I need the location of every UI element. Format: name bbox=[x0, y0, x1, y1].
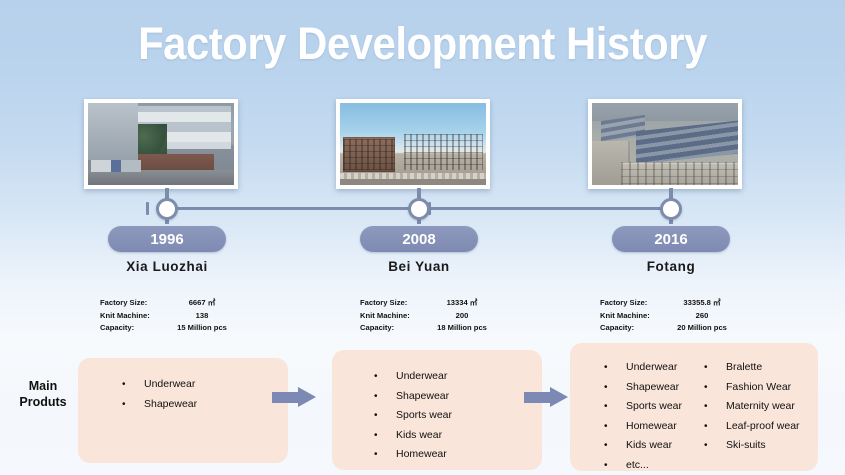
timeline-node-2016[interactable] bbox=[660, 198, 682, 220]
product-item: Underwear bbox=[144, 375, 195, 394]
slide-canvas: Factory Development History 1996 Xia Luo… bbox=[0, 0, 845, 475]
stat-label: Factory Size: bbox=[100, 297, 162, 310]
product-item: etc... bbox=[626, 456, 649, 475]
stat-label: Knit Machine: bbox=[360, 310, 422, 323]
bullet-icon: • bbox=[370, 427, 396, 446]
product-item: Sports wear bbox=[396, 406, 452, 425]
stat-value: 200 bbox=[422, 310, 502, 323]
bullet-icon: • bbox=[118, 396, 144, 415]
photo-image-aerial-complex bbox=[592, 103, 738, 185]
stat-label: Knit Machine: bbox=[600, 310, 662, 323]
page-title: Factory Development History bbox=[30, 18, 816, 70]
product-item: Kids wear bbox=[396, 426, 442, 445]
bullet-icon: • bbox=[370, 368, 396, 387]
stats-block-1996: Factory Size:6667 ㎡ Knit Machine:138 Cap… bbox=[100, 297, 242, 335]
bullet-icon: • bbox=[370, 407, 396, 426]
bullet-icon: • bbox=[600, 437, 626, 456]
milestone-photo-2008 bbox=[336, 99, 490, 189]
bullet-icon: • bbox=[600, 359, 626, 378]
stat-value: 15 Million pcs bbox=[162, 322, 242, 335]
milestone-photo-1996 bbox=[84, 99, 238, 189]
bullet-icon: • bbox=[600, 418, 626, 437]
bullet-icon: • bbox=[700, 359, 726, 378]
product-list-2016-col1: •Underwear •Shapewear •Sports wear •Home… bbox=[600, 358, 682, 475]
bullet-icon: • bbox=[700, 398, 726, 417]
photo-image-courtyard bbox=[88, 103, 234, 185]
product-item: Ski-suits bbox=[726, 436, 766, 455]
stats-block-2008: Factory Size:13334 ㎡ Knit Machine:200 Ca… bbox=[360, 297, 502, 335]
timeline-place-2008: Bei Yuan bbox=[319, 259, 519, 274]
stat-value: 6667 ㎡ bbox=[162, 297, 242, 310]
product-item: Shapewear bbox=[396, 387, 449, 406]
timeline-place-2016: Fotang bbox=[571, 259, 771, 274]
bullet-icon: • bbox=[600, 457, 626, 475]
arrow-right-icon-1 bbox=[272, 387, 316, 407]
timeline-connector-2 bbox=[428, 207, 676, 210]
product-item: Shapewear bbox=[144, 395, 197, 414]
stat-value: 260 bbox=[662, 310, 742, 323]
milestone-photo-2016 bbox=[588, 99, 742, 189]
stat-value: 13334 ㎡ bbox=[422, 297, 502, 310]
product-item: Kids wear bbox=[626, 436, 672, 455]
timeline-place-1996: Xia Luozhai bbox=[67, 259, 267, 274]
stat-value: 33355.8 ㎡ bbox=[662, 297, 742, 310]
product-list-2016-col2: •Bralette •Fashion Wear •Maternity wear … bbox=[700, 358, 800, 456]
timeline-node-1996[interactable] bbox=[156, 198, 178, 220]
stat-value: 18 Million pcs bbox=[422, 322, 502, 335]
stats-block-2016: Factory Size:33355.8 ㎡ Knit Machine:260 … bbox=[600, 297, 742, 335]
timeline-year-pill-1996[interactable]: 1996 bbox=[108, 226, 226, 252]
bullet-icon: • bbox=[600, 379, 626, 398]
stat-label: Factory Size: bbox=[360, 297, 422, 310]
product-item: Bralette bbox=[726, 358, 762, 377]
bullet-icon: • bbox=[118, 376, 144, 395]
product-list-2008: •Underwear •Shapewear •Sports wear •Kids… bbox=[370, 367, 452, 465]
main-products-label: Main Produts bbox=[12, 378, 74, 410]
stat-label: Factory Size: bbox=[600, 297, 662, 310]
bullet-icon: • bbox=[700, 437, 726, 456]
stat-label: Capacity: bbox=[600, 322, 662, 335]
product-item: Sports wear bbox=[626, 397, 682, 416]
stat-label: Capacity: bbox=[100, 322, 162, 335]
product-item: Fashion Wear bbox=[726, 378, 791, 397]
product-item: Leaf-proof wear bbox=[726, 417, 800, 436]
bullet-icon: • bbox=[700, 379, 726, 398]
product-item: Shapewear bbox=[626, 378, 679, 397]
bullet-icon: • bbox=[700, 418, 726, 437]
bullet-icon: • bbox=[600, 398, 626, 417]
arrow-right-icon-2 bbox=[524, 387, 568, 407]
bullet-icon: • bbox=[370, 388, 396, 407]
product-item: Homewear bbox=[396, 445, 447, 464]
stat-label: Knit Machine: bbox=[100, 310, 162, 323]
timeline-node-2008[interactable] bbox=[408, 198, 430, 220]
product-item: Maternity wear bbox=[726, 397, 795, 416]
stat-value: 20 Million pcs bbox=[662, 322, 742, 335]
product-item: Underwear bbox=[626, 358, 677, 377]
timeline-year-pill-2008[interactable]: 2008 bbox=[360, 226, 478, 252]
timeline-year-pill-2016[interactable]: 2016 bbox=[612, 226, 730, 252]
stat-label: Capacity: bbox=[360, 322, 422, 335]
stat-value: 138 bbox=[162, 310, 242, 323]
product-item: Underwear bbox=[396, 367, 447, 386]
timeline-connector-1 bbox=[176, 207, 424, 210]
product-item: Homewear bbox=[626, 417, 677, 436]
timeline-cap-start bbox=[146, 202, 149, 215]
product-list-1996: •Underwear •Shapewear bbox=[118, 375, 197, 414]
photo-image-brick-buildings bbox=[340, 103, 486, 185]
bullet-icon: • bbox=[370, 446, 396, 465]
